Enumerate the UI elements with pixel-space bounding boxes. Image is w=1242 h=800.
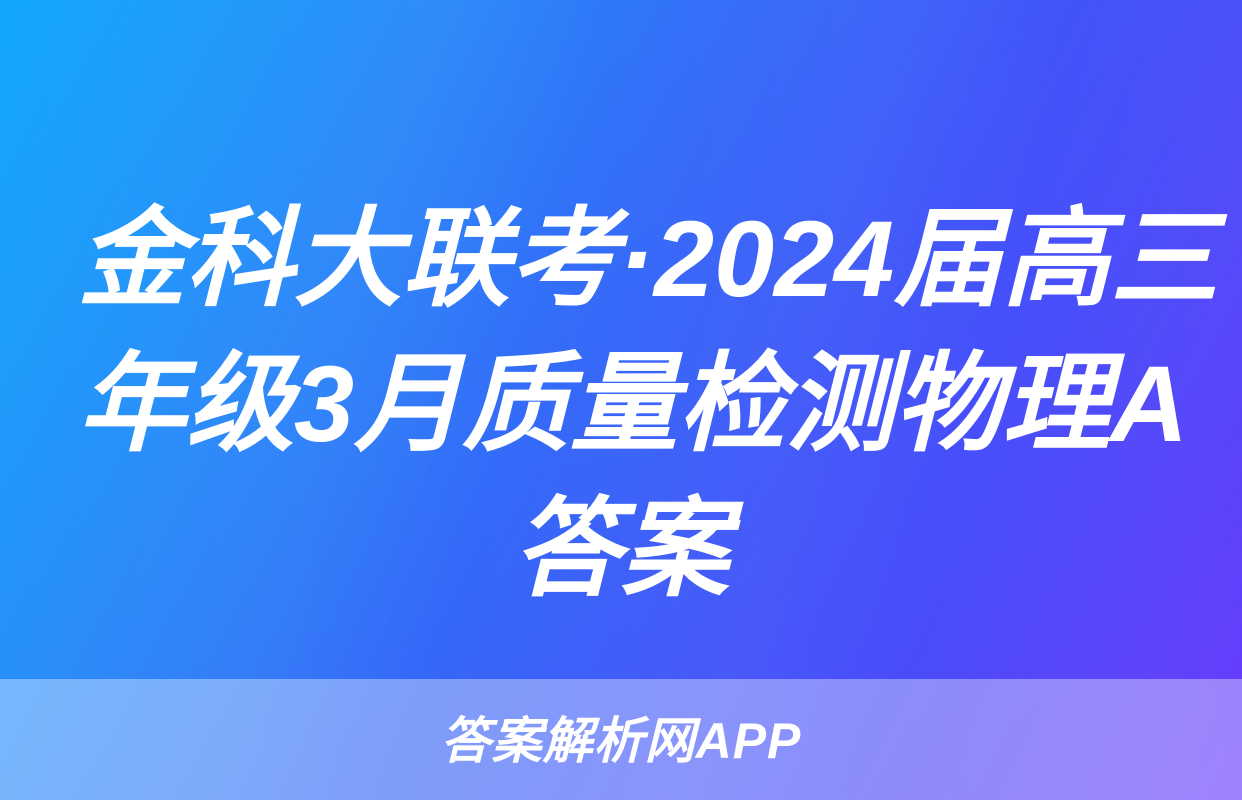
watermark-text: 答案解析网APP bbox=[441, 716, 802, 766]
title-line-3: 答案 bbox=[78, 476, 1164, 621]
title-line-1: 金科大联考·2024届高三 bbox=[78, 186, 1164, 331]
title-line-2: 年级3月质量检测物理A bbox=[78, 331, 1164, 476]
page-title: 金科大联考·2024届高三 年级3月质量检测物理A 答案 bbox=[0, 186, 1242, 621]
answer-cover-card: 金科大联考·2024届高三 年级3月质量检测物理A 答案 答案解析网APP bbox=[0, 0, 1242, 800]
watermark-band: 答案解析网APP bbox=[0, 679, 1242, 800]
